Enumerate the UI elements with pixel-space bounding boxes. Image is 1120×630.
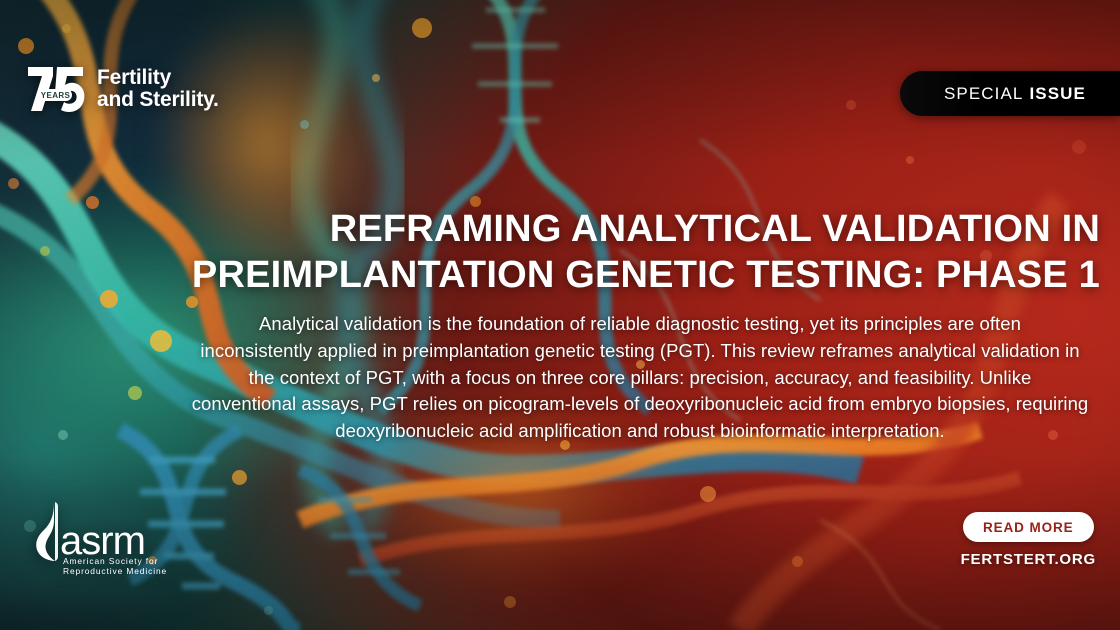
article-title: REFRAMING ANALYTICAL VALIDATION IN PREIM… bbox=[20, 206, 1100, 298]
asrm-tagline-line2: Reproductive Medicine bbox=[63, 566, 167, 576]
abstract-line-1: Analytical validation is the foundation … bbox=[178, 311, 1102, 338]
asrm-logo: asrm American Society for Reproductive M… bbox=[24, 498, 174, 581]
journal-wordmark-line1: Fertility bbox=[97, 67, 219, 89]
asrm-tagline-line1: American Society for bbox=[63, 556, 158, 566]
abstract-line-3: the context of PGT, with a focus on thre… bbox=[178, 365, 1102, 392]
svg-text:YEARS: YEARS bbox=[41, 91, 71, 100]
badge-emphasis: ISSUE bbox=[1029, 84, 1086, 104]
call-to-action: READ MORE FERTSTERT.ORG bbox=[961, 512, 1096, 568]
abstract-line-4: conventional assays, PGT relies on picog… bbox=[178, 391, 1102, 418]
promo-poster: YEARS Fertility and Sterility. SPECIAL I… bbox=[0, 0, 1120, 630]
article-title-line1: REFRAMING ANALYTICAL VALIDATION IN bbox=[20, 206, 1100, 252]
website-url[interactable]: FERTSTERT.ORG bbox=[961, 551, 1096, 568]
journal-wordmark-line2: and Sterility. bbox=[97, 89, 219, 111]
abstract-line-2: inconsistently applied in preimplantatio… bbox=[178, 338, 1102, 365]
special-issue-badge: SPECIAL ISSUE bbox=[900, 71, 1120, 116]
article-title-line2: PREIMPLANTATION GENETIC TESTING: PHASE 1 bbox=[20, 252, 1100, 298]
badge-prefix: SPECIAL bbox=[944, 84, 1024, 104]
anniversary-75-icon: YEARS bbox=[26, 64, 88, 114]
read-more-button[interactable]: READ MORE bbox=[963, 512, 1094, 542]
abstract-line-5: deoxyribonucleic acid amplification and … bbox=[178, 418, 1102, 445]
article-abstract: Analytical validation is the foundation … bbox=[178, 311, 1102, 445]
journal-brand-lockup: YEARS Fertility and Sterility. bbox=[26, 64, 219, 114]
journal-wordmark: Fertility and Sterility. bbox=[97, 67, 219, 111]
